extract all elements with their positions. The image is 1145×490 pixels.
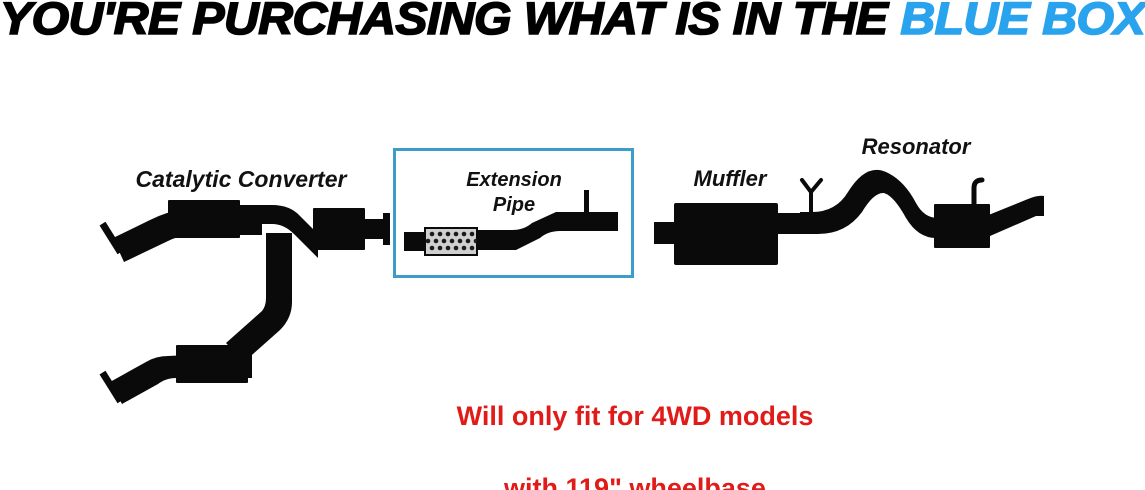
- cat-upper-canister: [168, 200, 240, 238]
- fitment-note: Will only fit for 4WD models with 119" w…: [355, 362, 915, 490]
- cat-lower-canister: [176, 345, 248, 383]
- label-catalytic-converter: Catalytic Converter: [128, 166, 354, 193]
- label-extension-pipe: Extension Pipe: [404, 168, 624, 218]
- cat-outlet-flange-icon: [383, 213, 390, 245]
- fitment-note-line2: with 119" wheelbase: [355, 470, 915, 490]
- label-extension-pipe-line1: Extension: [404, 168, 624, 193]
- exhaust-parts-diagram: YOU'RE PURCHASING WHAT IS IN THE BLUE BO…: [0, 0, 1145, 490]
- cat-outlet-canister: [313, 208, 365, 250]
- muffler-art: [654, 203, 804, 265]
- fitment-note-line1: Will only fit for 4WD models: [355, 398, 915, 434]
- label-muffler: Muffler: [660, 166, 800, 192]
- label-resonator: Resonator: [826, 134, 1006, 160]
- resonator-hanger-bracket-icon: [802, 180, 821, 214]
- cat-outlet-pipe: [363, 219, 385, 239]
- resonator-canister: [934, 204, 990, 248]
- resonator-art: [800, 170, 1044, 248]
- muffler-inlet-stub: [654, 222, 676, 244]
- cat-trunk: [226, 233, 292, 362]
- resonator-tailpipe: [986, 196, 1044, 236]
- catalytic-converter-art: [100, 200, 390, 404]
- muffler-body: [674, 203, 778, 265]
- label-extension-pipe-line2: Pipe: [404, 193, 624, 218]
